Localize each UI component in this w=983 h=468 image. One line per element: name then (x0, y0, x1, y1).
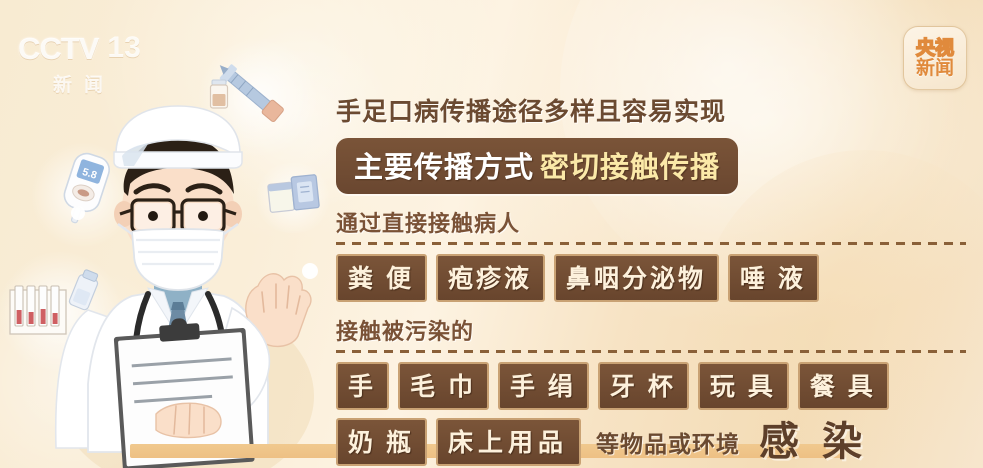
cctv-logo-slash (98, 33, 108, 63)
sparkle-icon (301, 262, 319, 280)
tag-item: 手 (336, 362, 389, 410)
section-2-divider (336, 350, 966, 353)
section-2-subhead: 接触被污染的 (336, 314, 966, 346)
cctv-news-badge: 央视 新闻 (903, 26, 967, 90)
tag-item: 牙 杯 (598, 362, 689, 410)
tag-item: 奶 瓶 (336, 418, 427, 466)
section-2-tag-row-1: 手 毛 巾 手 绢 牙 杯 玩 具 餐 具 (336, 362, 966, 410)
cctv-logo-text: CCTV (18, 33, 98, 64)
cctv13-watermark: CCTV 13 新闻 (18, 28, 138, 102)
tag-item: 毛 巾 (398, 362, 489, 410)
infographic-canvas: CCTV 13 新闻 央视 新闻 5.8 (0, 0, 983, 468)
tag-item: 唾 液 (728, 254, 819, 302)
badge-char-xin: 新闻 (916, 59, 954, 78)
section-1-divider (336, 242, 966, 245)
section-1-subhead: 通过直接接触病人 (336, 206, 966, 238)
infographic-text-content: 手足口病传播途径多样且容易实现 主要传播方式密切接触传播 通过直接接触病人 粪 … (336, 92, 966, 466)
badge-line-2: 新闻 (916, 59, 954, 78)
tag-item: 鼻咽分泌物 (554, 254, 719, 302)
pill-label-primary: 主要传播方式 (354, 152, 534, 184)
section-1-tag-row: 粪 便 疱疹液 鼻咽分泌物 唾 液 (336, 254, 966, 302)
emphasis-text: 感 染 (759, 422, 868, 462)
cctv-channel-number: 13 (107, 33, 140, 63)
tag-item: 粪 便 (336, 254, 427, 302)
page-title: 手足口病传播途径多样且容易实现 (336, 92, 966, 128)
section-2-tag-row-2: 奶 瓶 床上用品 等物品或环境 感 染 (336, 418, 966, 466)
tag-item: 餐 具 (798, 362, 889, 410)
pill-label-highlight: 密切接触传播 (540, 152, 720, 184)
tag-item: 手 绢 (498, 362, 589, 410)
cctv-logo-subtitle: 新闻 (18, 70, 138, 97)
trailing-text: 等物品或环境 (596, 425, 740, 459)
doctor-illustration (36, 96, 322, 468)
badge-char-yang: 央视 (916, 39, 954, 58)
badge-line-1: 央视 (916, 39, 954, 58)
main-transmission-pill: 主要传播方式密切接触传播 (336, 138, 738, 194)
sparkle-icon (70, 205, 86, 221)
tag-item: 床上用品 (436, 418, 581, 466)
cctv-logo-row: CCTV 13 (18, 28, 138, 68)
tag-item: 玩 具 (698, 362, 789, 410)
tag-item: 疱疹液 (436, 254, 545, 302)
